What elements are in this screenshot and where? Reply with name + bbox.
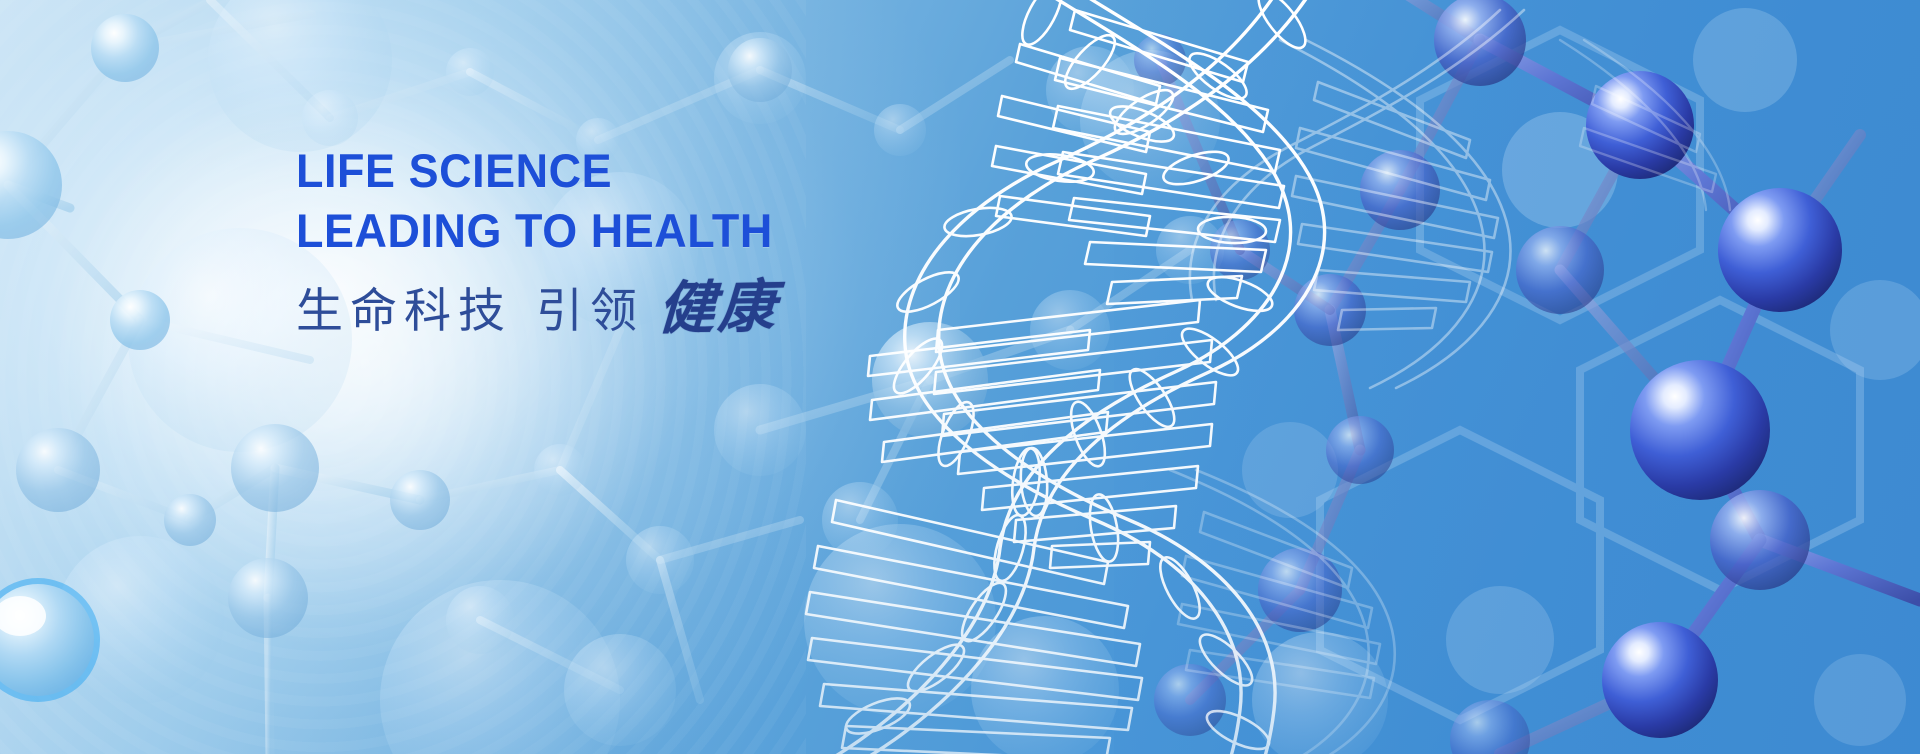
dna-base-pairs-middle xyxy=(868,300,1216,568)
headline-line-1: LIFE SCIENCE xyxy=(296,142,773,200)
dna-double-helix xyxy=(0,0,1920,754)
dna-top-right-fragment xyxy=(1560,40,1730,210)
dna-lower-right-helix xyxy=(1170,470,1395,754)
headline-line-2: LEADING TO HEALTH xyxy=(296,202,773,260)
chinese-tagline-part-3-calligraphy: 健康 xyxy=(656,277,779,339)
headline-block: LIFE SCIENCE LEADING TO HEALTH 生命科技 引领 健… xyxy=(296,142,795,342)
chinese-tagline-part-1: 生命科技 xyxy=(296,282,512,342)
chinese-tagline: 生命科技 引领 健康 xyxy=(296,278,795,342)
life-science-banner: LIFE SCIENCE LEADING TO HEALTH 生命科技 引领 健… xyxy=(0,0,1920,754)
chinese-tagline-part-2: 引领 xyxy=(536,282,644,342)
